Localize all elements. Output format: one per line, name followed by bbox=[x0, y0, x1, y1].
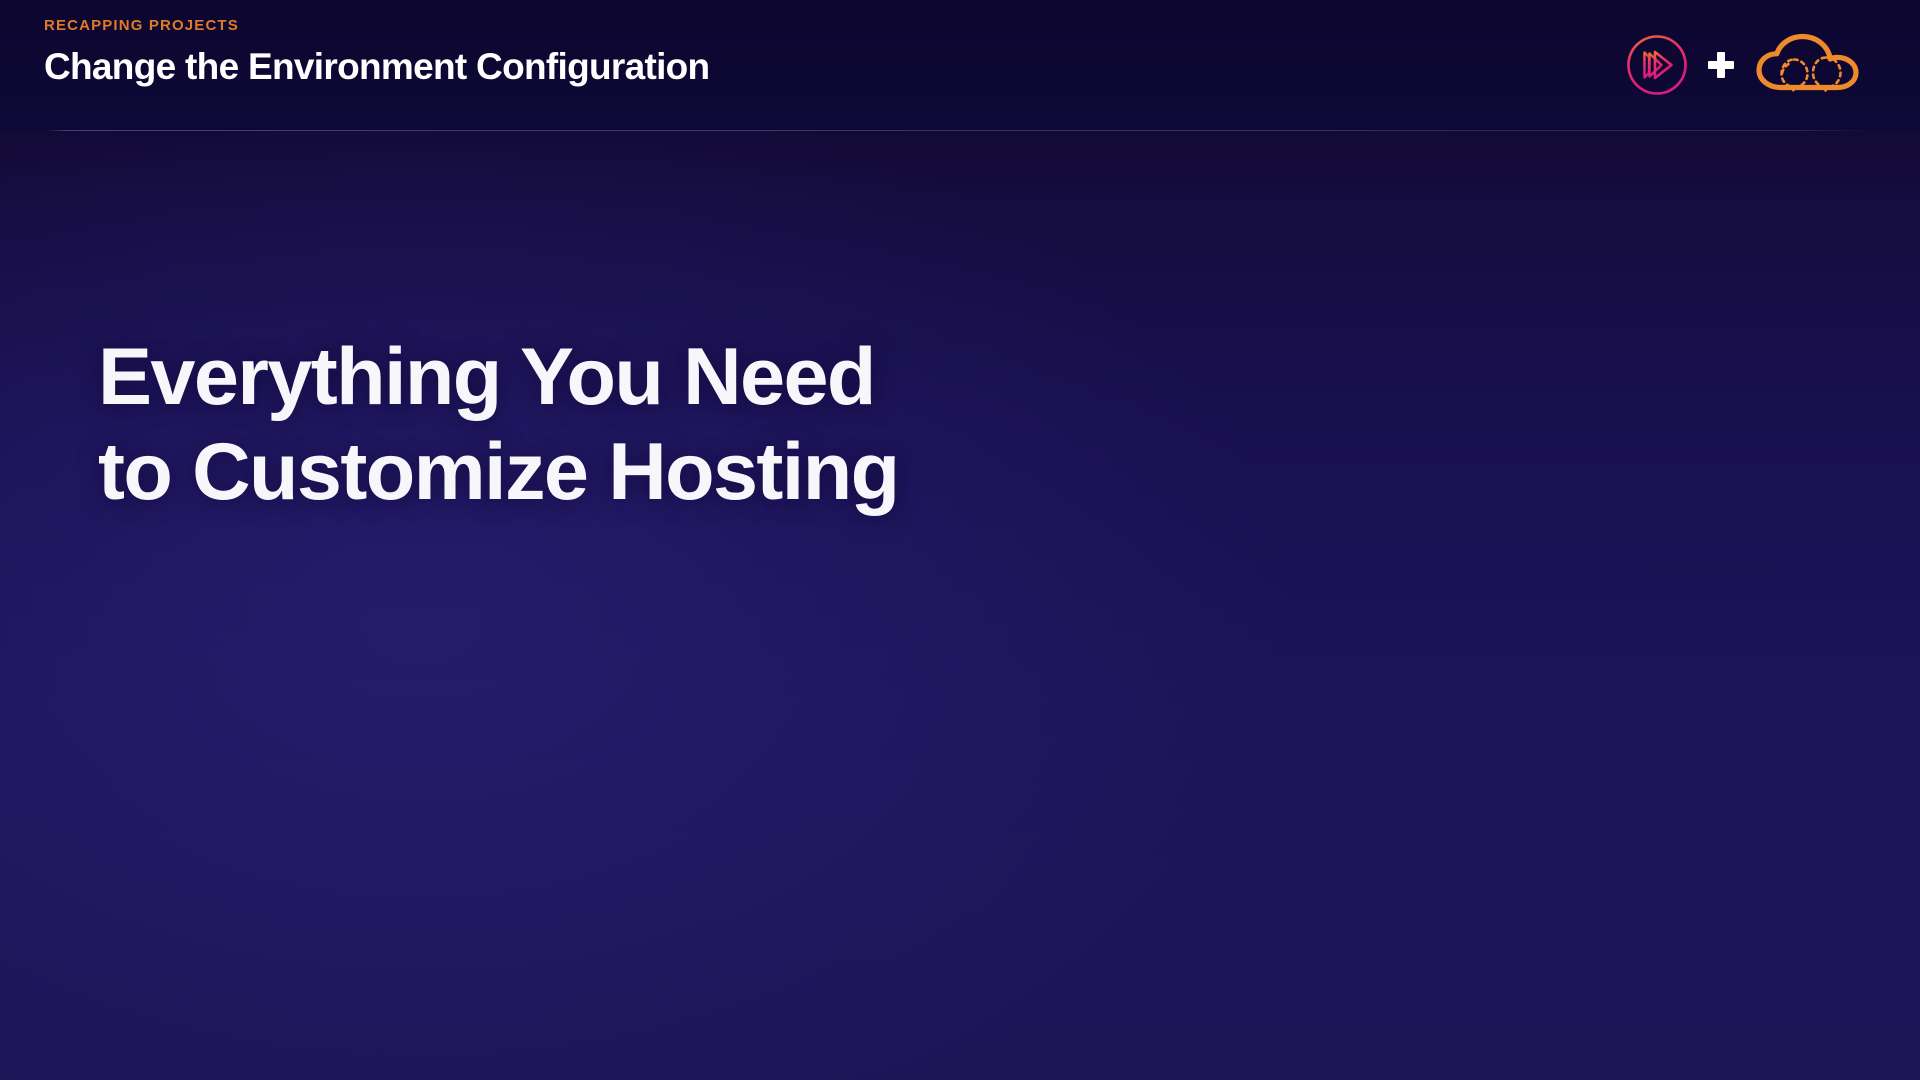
eyebrow-label: RECAPPING PROJECTS bbox=[44, 18, 709, 33]
plus-icon bbox=[1708, 52, 1734, 78]
slide-header: RECAPPING PROJECTS Change the Environmen… bbox=[0, 0, 1920, 131]
slide-content-area bbox=[0, 500, 1920, 1080]
page-title: Change the Environment Configuration bbox=[44, 47, 709, 87]
vue-mastery-play-logo-icon bbox=[1622, 30, 1692, 100]
main-headline: Everything You Need to Customize Hosting bbox=[98, 330, 1098, 520]
presentation-slide: RECAPPING PROJECTS Change the Environmen… bbox=[0, 0, 1920, 1080]
headline-block: Everything You Need to Customize Hosting bbox=[98, 330, 1098, 520]
headline-line-1: Everything You Need bbox=[98, 330, 1098, 425]
header-divider bbox=[44, 130, 1875, 131]
logo-group bbox=[1622, 32, 1874, 98]
cloudinary-cloud-logo-icon bbox=[1750, 30, 1874, 100]
header-text-group: RECAPPING PROJECTS Change the Environmen… bbox=[44, 18, 709, 87]
